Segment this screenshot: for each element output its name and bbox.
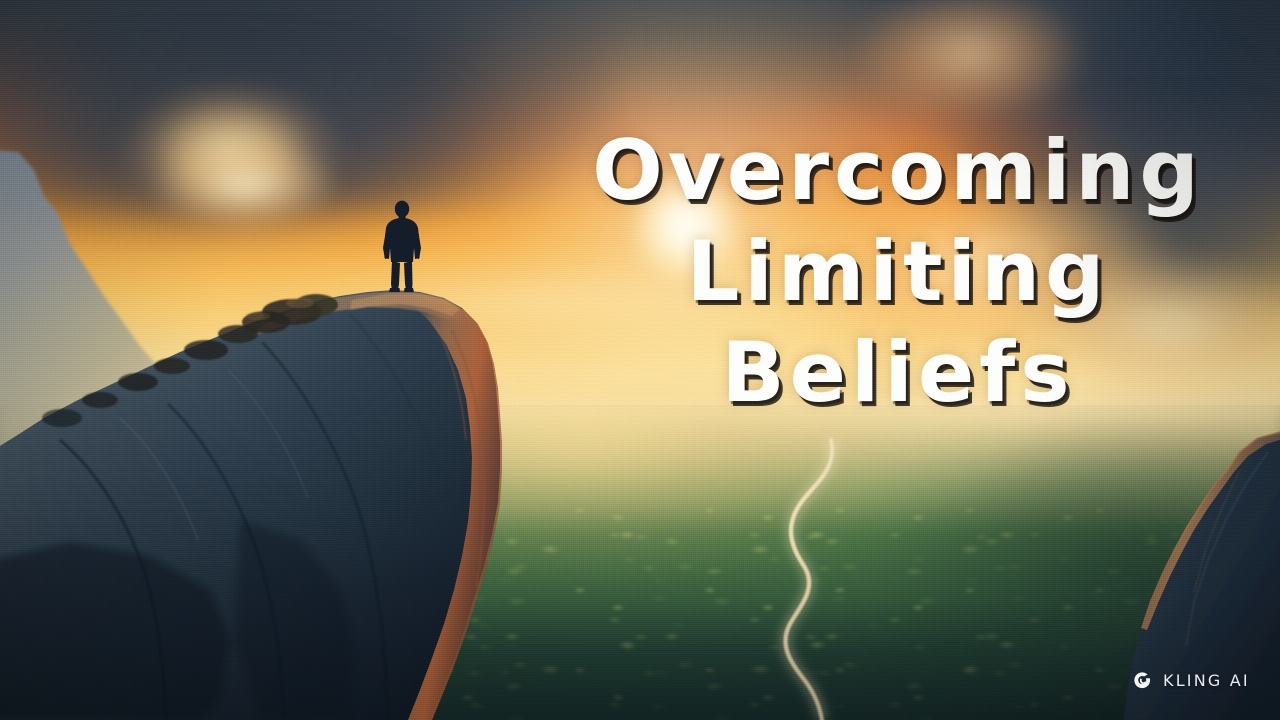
title-card-image: Overcoming Limiting Beliefs KLING AI <box>0 0 1280 720</box>
film-grain-overlay <box>0 0 1280 720</box>
watermark: KLING AI <box>1133 670 1250 691</box>
watermark-label: KLING AI <box>1163 673 1250 689</box>
kling-ring-logo-icon <box>1133 670 1154 691</box>
